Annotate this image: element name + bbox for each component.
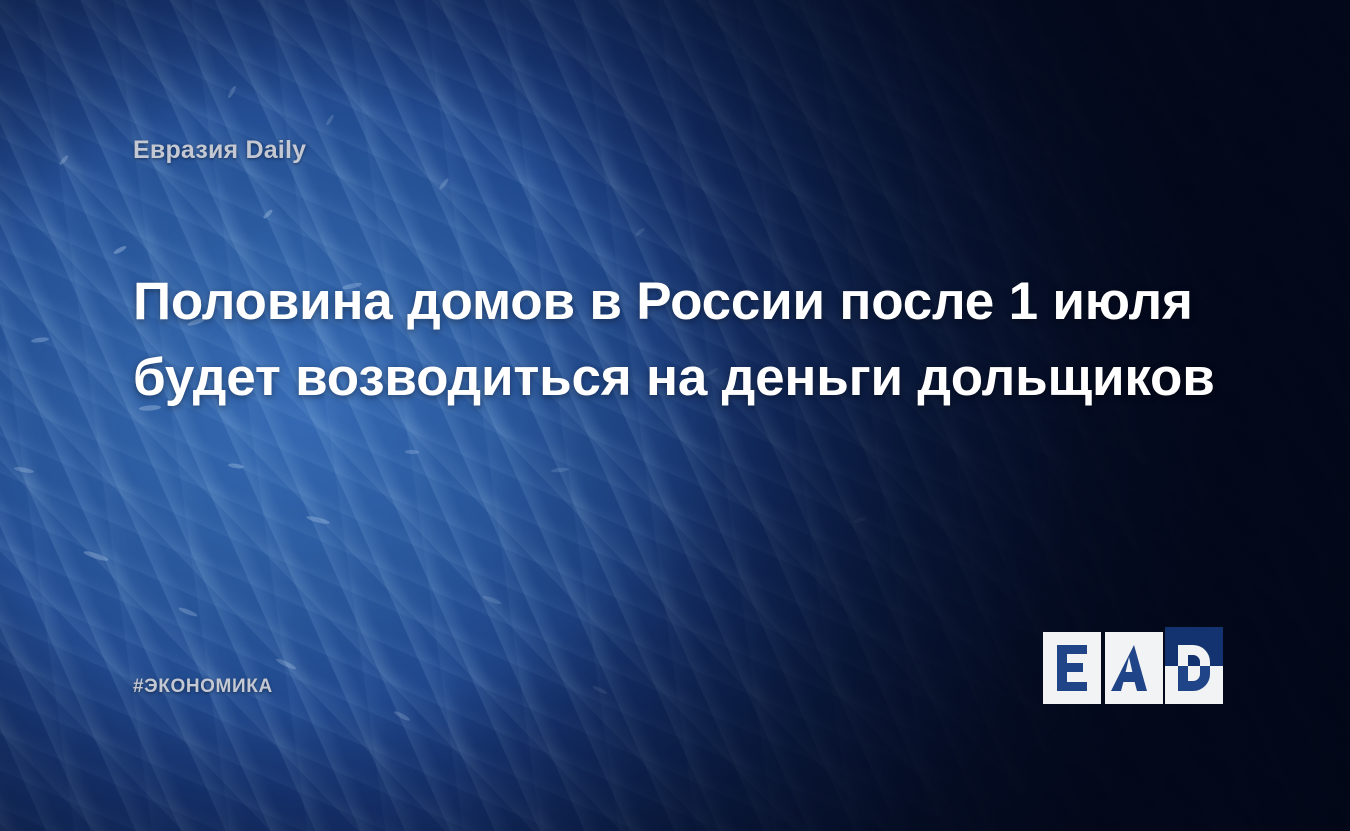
headline: Половина домов в России после 1 июля буд… (133, 264, 1238, 416)
brand-name: Евразия Daily (133, 136, 306, 165)
news-card: Евразия Daily Половина домов в России по… (0, 0, 1350, 831)
logo-letter-e (1057, 645, 1087, 691)
category-hashtag: #ЭКОНОМИКА (133, 676, 273, 698)
eadaily-logo (1043, 627, 1223, 708)
card-content: Евразия Daily Половина домов в России по… (0, 0, 1350, 831)
